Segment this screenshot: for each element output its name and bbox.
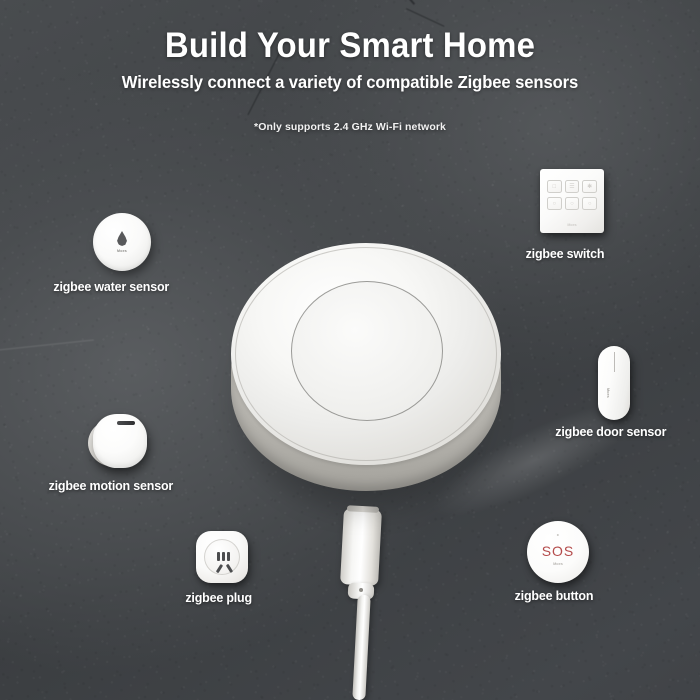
power-socket-icon xyxy=(204,539,240,575)
stone-crack xyxy=(0,339,94,353)
switch-key[interactable]: ○ xyxy=(565,197,580,210)
product-hero-image: Build Your Smart Home Wirelessly connect… xyxy=(0,0,700,700)
switch-key[interactable]: ☰ xyxy=(565,180,580,193)
socket-pin xyxy=(227,552,230,561)
switch-key-grid: □ ☰ ✱ ○ ○ ○ xyxy=(547,180,597,210)
label-switch: zigbee switch xyxy=(526,246,605,261)
device-motion-sensor xyxy=(88,413,148,471)
network-note: *Only supports 2.4 GHz Wi-Fi network xyxy=(0,121,700,133)
socket-pin xyxy=(222,552,225,561)
device-plug xyxy=(196,531,248,583)
switch-key-glyph: ○ xyxy=(588,201,592,207)
zigbee-hub xyxy=(225,243,507,511)
brand-text: Moes xyxy=(606,388,610,398)
label-door-sensor: zigbee door sensor xyxy=(555,424,666,439)
socket-pin xyxy=(226,564,233,573)
switch-key-glyph: ○ xyxy=(570,201,574,207)
status-led xyxy=(557,534,559,536)
switch-key[interactable]: ○ xyxy=(547,197,562,210)
motion-sensor-face xyxy=(93,414,147,468)
hero-headings: Build Your Smart Home Wirelessly connect… xyxy=(0,0,700,133)
door-contact-icon: Moes xyxy=(598,346,630,420)
motion-lens-icon xyxy=(117,421,135,425)
label-motion-sensor: zigbee motion sensor xyxy=(49,478,173,493)
water-sensor-face: Moes xyxy=(93,213,151,271)
switch-key[interactable]: ✱ xyxy=(582,180,597,193)
page-title: Build Your Smart Home xyxy=(21,26,679,66)
device-switch: □ ☰ ✱ ○ ○ ○ Moes xyxy=(540,169,604,233)
switch-panel-icon: □ ☰ ✱ ○ ○ ○ Moes xyxy=(540,169,604,233)
brand-text: Moes xyxy=(117,249,127,253)
socket-pin xyxy=(217,552,220,561)
brand-text: Moes xyxy=(553,562,563,566)
page-subtitle: Wirelessly connect a variety of compatib… xyxy=(18,72,683,93)
plug-face xyxy=(196,531,248,583)
usb-connector xyxy=(340,508,382,586)
water-drop-icon xyxy=(117,231,128,246)
label-button: zigbee button xyxy=(515,588,594,603)
device-door-sensor: Moes xyxy=(598,346,630,420)
switch-key[interactable]: ○ xyxy=(582,197,597,210)
hub-inner-circle xyxy=(291,281,443,421)
switch-key-glyph: ☰ xyxy=(569,184,574,190)
switch-key-glyph: □ xyxy=(553,184,557,190)
device-water-sensor: Moes xyxy=(93,213,151,271)
sos-icon[interactable]: SOS Moes xyxy=(527,521,589,583)
switch-key[interactable]: □ xyxy=(547,180,562,193)
label-plug: zigbee plug xyxy=(185,590,252,605)
socket-pin xyxy=(216,564,223,573)
door-sensor-seam xyxy=(614,352,615,372)
brand-text: Moes xyxy=(540,223,604,227)
sos-label: SOS xyxy=(542,543,575,559)
device-button: SOS Moes xyxy=(527,521,589,583)
switch-key-glyph: ✱ xyxy=(587,184,592,190)
label-water-sensor: zigbee water sensor xyxy=(53,279,169,294)
switch-key-glyph: ○ xyxy=(553,201,557,207)
